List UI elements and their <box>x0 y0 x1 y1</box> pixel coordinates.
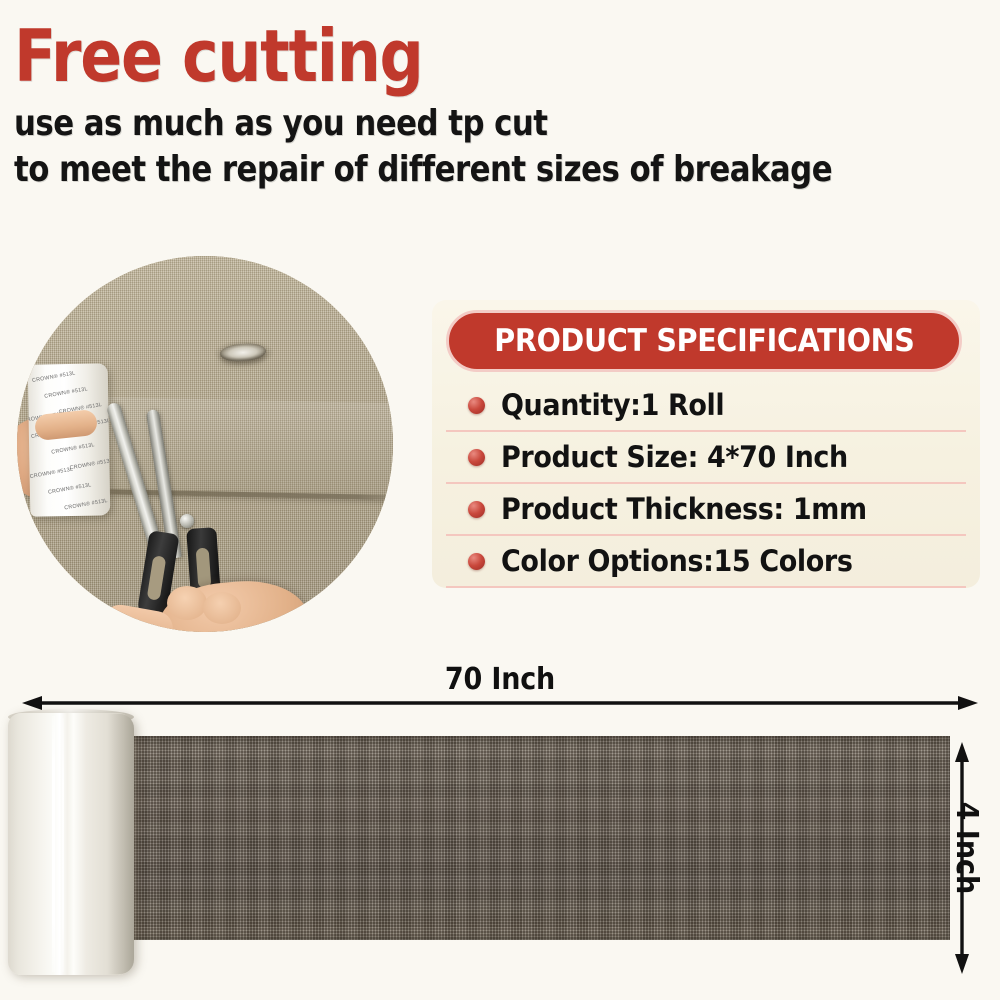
bullet-icon <box>468 397 485 414</box>
roll-backing-text: CROWN® #513L <box>69 458 110 472</box>
roll-backing-text: CROWN® #513L <box>44 386 88 400</box>
tape-roll-highlight <box>52 716 55 972</box>
roll-backing-text: CROWN® #513L <box>32 370 76 384</box>
tape-roll-shading <box>108 714 134 974</box>
scissors-handle-right-hole <box>196 548 212 589</box>
roll-backing-text: CROWN® #513L <box>48 482 92 496</box>
bullet-icon <box>468 553 485 570</box>
width-dimension-label: 4 Inch <box>949 802 984 910</box>
spec-panel-header: PRODUCT SPECIFICATIONS <box>446 310 962 372</box>
header-block: Free cutting use as much as you need tp … <box>14 22 994 193</box>
spec-row: Color Options:15 Colors <box>446 536 966 588</box>
bullet-icon <box>468 501 485 518</box>
right-hand-knuckle <box>167 586 207 620</box>
spec-row: Quantity:1 Roll <box>446 380 966 432</box>
bullet-icon <box>468 449 485 466</box>
subtitle-line-1: use as much as you need tp cut <box>14 101 852 147</box>
spec-row: Product Thickness: 1mm <box>446 484 966 536</box>
spec-panel-header-label: PRODUCT SPECIFICATIONS <box>494 323 914 359</box>
spec-row: Product Size: 4*70 Inch <box>446 432 966 484</box>
fabric-tape-strip <box>126 736 950 940</box>
tape-roll-with-backing-paper: CROWN® #513L CROWN® #513L CROWN® #513L C… <box>28 363 111 516</box>
spec-list: Quantity:1 Roll Product Size: 4*70 Inch … <box>446 380 966 588</box>
page-title: Free cutting <box>14 22 857 91</box>
spec-label-thickness: Product Thickness: 1mm <box>501 492 867 526</box>
spec-label-product-size: Product Size: 4*70 Inch <box>501 440 848 474</box>
tape-roll-highlight <box>62 718 64 972</box>
subtitle-line-2: to meet the repair of different sizes of… <box>14 147 852 193</box>
right-hand-knuckle <box>203 592 241 624</box>
cutting-demo-photo: CROWN® #513L CROWN® #513L CROWN® #513L C… <box>17 256 393 632</box>
roll-backing-text: CROWN® #513L <box>29 467 73 481</box>
roll-backing-text: CROWN® #513L <box>51 442 95 456</box>
scissors-pivot-screw <box>180 514 194 528</box>
roll-backing-text: CROWN® #513L <box>64 498 108 512</box>
product-specifications-panel: PRODUCT SPECIFICATIONS Quantity:1 Roll P… <box>432 300 980 588</box>
spec-label-color-options: Color Options:15 Colors <box>501 544 853 578</box>
spec-label-quantity: Quantity:1 Roll <box>501 388 724 422</box>
length-dimension-arrow <box>22 692 978 714</box>
